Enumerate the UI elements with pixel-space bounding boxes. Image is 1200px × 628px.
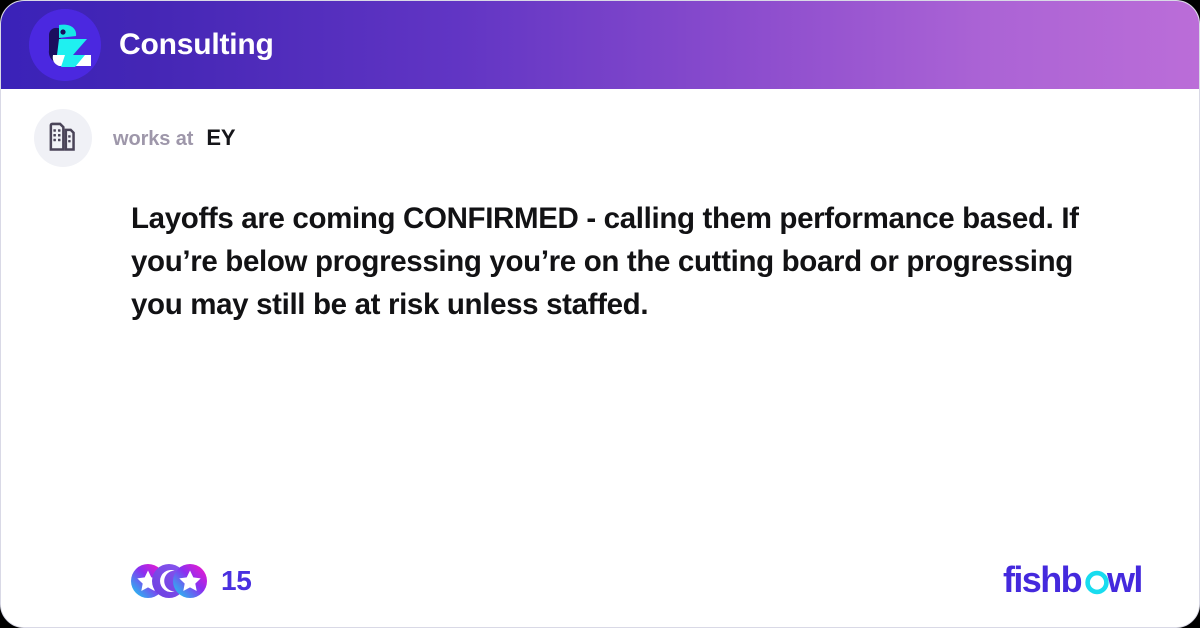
- reaction-count: 15: [221, 567, 252, 595]
- star-reaction-icon[interactable]: [173, 564, 207, 598]
- svg-text:fishb: fishb: [1003, 559, 1082, 600]
- fishbowl-logo-icon: [29, 9, 101, 81]
- byline-text: works at EY: [113, 125, 235, 151]
- avatar: [34, 109, 92, 167]
- card-body: works at EY Layoffs are coming CONFIRMED…: [1, 89, 1199, 627]
- company-name: EY: [206, 125, 235, 151]
- post-text: Layoffs are coming CONFIRMED - calling t…: [131, 197, 1129, 326]
- office-building-icon: [46, 121, 80, 155]
- reactions[interactable]: 15: [131, 564, 252, 598]
- svg-text:wl: wl: [1106, 559, 1142, 600]
- reaction-badge-stack[interactable]: [131, 564, 207, 598]
- card-header: Consulting: [1, 1, 1199, 89]
- page-title: Consulting: [119, 30, 274, 60]
- post-byline: works at EY: [1, 89, 1199, 161]
- post-card: Consulting: [0, 0, 1200, 628]
- fishbowl-wordmark: fishb wl: [1003, 558, 1151, 604]
- works-at-label: works at: [113, 128, 193, 151]
- card-footer: 15 fishb wl: [1, 535, 1199, 627]
